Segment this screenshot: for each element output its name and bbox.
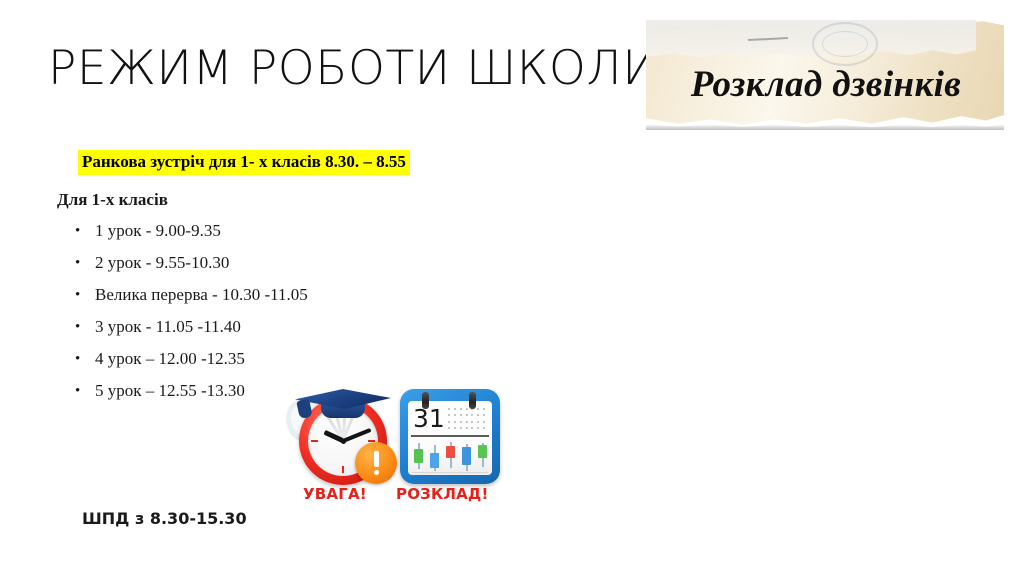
calendar-ring-left	[422, 392, 429, 409]
chart-baseline	[412, 472, 488, 473]
right-column: Ранкова зустріч для 2-4- х класів 8.30. …	[512, 0, 1024, 577]
graduation-cap-icon	[295, 386, 391, 420]
calendar-mini-chart	[412, 441, 488, 473]
lesson-list-grade1: • 1 урок - 9.00-9.35 • 2 урок - 9.55-10.…	[57, 215, 308, 407]
list-item-label: 5 урок – 12.55 -13.30	[95, 381, 245, 400]
list-item-label: 3 урок - 11.05 -11.40	[95, 317, 241, 336]
calendar-ring-right	[469, 392, 476, 409]
bullet-icon: •	[75, 279, 80, 311]
list-item-label: 1 урок - 9.00-9.35	[95, 221, 221, 240]
schedule-label: РОЗКЛАД!	[396, 485, 489, 503]
calendar-dot-grid	[448, 408, 488, 432]
chart-bar-green	[414, 449, 423, 463]
calendar-divider	[411, 435, 489, 437]
list-item: • 2 урок - 9.55-10.30	[57, 247, 308, 279]
alarm-clock-calendar-graphic: 31	[283, 376, 518, 514]
chart-bar-blue	[430, 453, 439, 468]
list-item-label: 4 урок – 12.00 -12.35	[95, 349, 245, 368]
slide-canvas: РЕЖИМ РОБОТИ ШКОЛИ Розклад дзвінків Ранк…	[0, 0, 1024, 577]
chart-bar-green	[478, 445, 487, 458]
list-item: • 1 урок - 9.00-9.35	[57, 215, 308, 247]
chart-bar-red	[446, 446, 455, 458]
morning-meeting-grade1: Ранкова зустріч для 1- х класів 8.30. – …	[78, 150, 410, 175]
chart-bar-blue	[462, 447, 471, 465]
list-item-label: Велика перерва - 10.30 -11.05	[95, 285, 308, 304]
list-item: • 5 урок – 12.55 -13.30	[57, 375, 308, 407]
attention-label: УВАГА!	[303, 485, 367, 503]
alarm-clock-icon	[285, 386, 393, 484]
calendar-icon: 31	[400, 389, 500, 484]
clock-center-pin	[341, 439, 346, 444]
calendar-page: 31	[408, 401, 492, 475]
bullet-icon: •	[75, 343, 80, 375]
list-item-label: 2 урок - 9.55-10.30	[95, 253, 229, 272]
clock-tick-9	[311, 440, 318, 442]
list-item: • 4 урок – 12.00 -12.35	[57, 343, 308, 375]
list-item: • 3 урок - 11.05 -11.40	[57, 311, 308, 343]
bullet-icon: •	[75, 247, 80, 279]
list-item: • Велика перерва - 10.30 -11.05	[57, 279, 308, 311]
calendar-day-number: 31	[413, 406, 445, 431]
bullet-icon: •	[75, 215, 80, 247]
exclamation-badge-icon	[355, 442, 397, 484]
illustration-labels: УВАГА! РОЗКЛАД!	[283, 485, 518, 509]
shpd-hours-grade1: ШПД з 8.30-15.30	[82, 509, 247, 528]
group-heading-grade1: Для 1-х класів	[57, 190, 168, 210]
bullet-icon: •	[75, 375, 80, 407]
bullet-icon: •	[75, 311, 80, 343]
clock-tick-6	[342, 466, 344, 473]
